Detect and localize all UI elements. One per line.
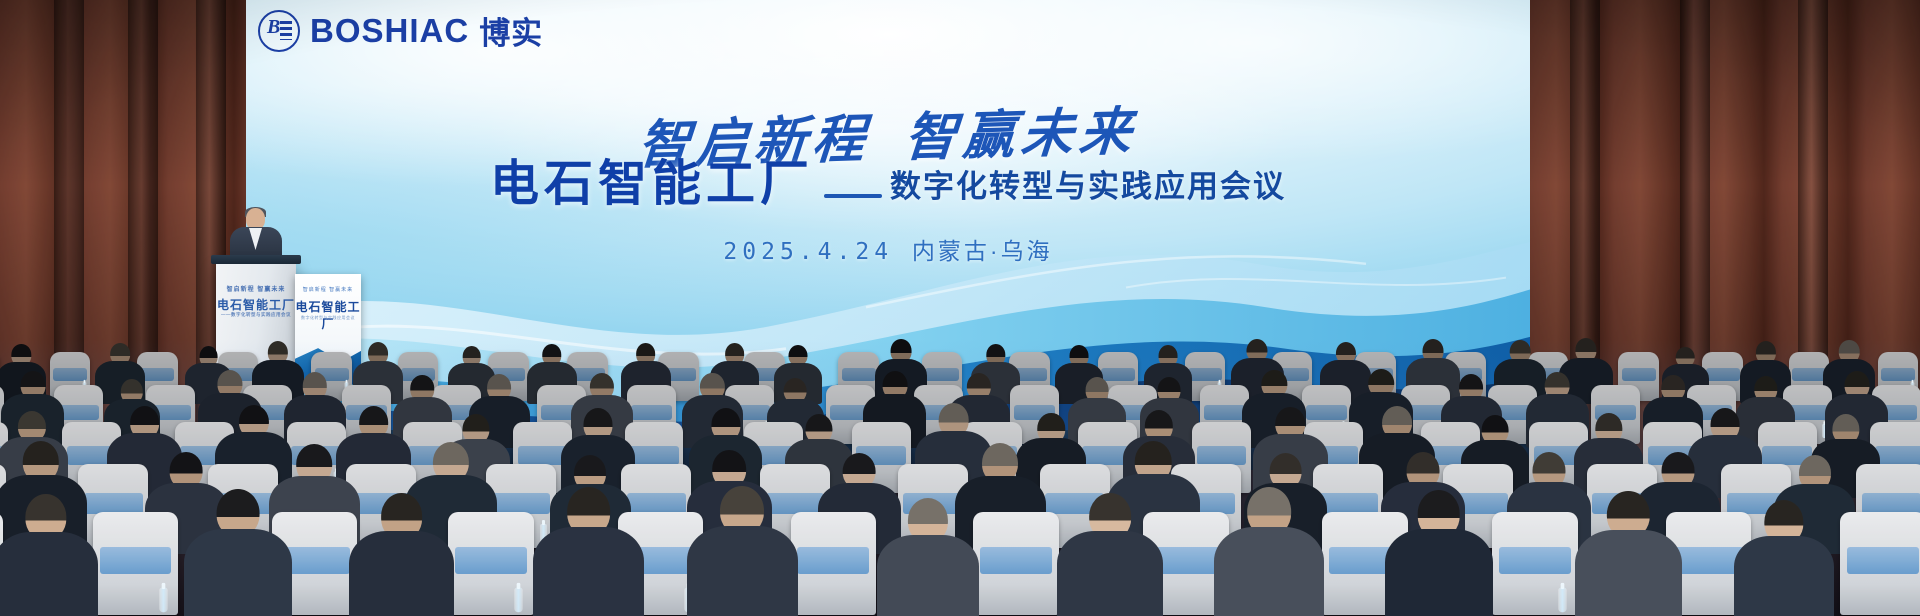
emblem-bars-icon xyxy=(280,21,292,40)
audience-member xyxy=(1214,487,1325,616)
audience-member xyxy=(1734,500,1833,616)
audience-chair xyxy=(1840,512,1920,614)
brand-name-english: BOSHIAC xyxy=(310,12,469,50)
chair-back-band xyxy=(100,547,172,574)
audience-member xyxy=(0,494,98,616)
chair-back-band xyxy=(1319,493,1378,515)
screen-main-title: 电石智能工厂 xyxy=(490,160,814,209)
audience-shoulders xyxy=(349,531,455,616)
screen-date-location: 2025.4.24 内蒙古·乌海 xyxy=(246,232,1530,266)
audience-member xyxy=(1385,490,1493,616)
chair-back-band xyxy=(980,547,1052,574)
audience-shoulders xyxy=(1575,530,1682,616)
audience-member xyxy=(1575,491,1682,616)
rollup-line-top: 智启新程 智赢未来 xyxy=(295,286,361,293)
chair-back-band xyxy=(1792,368,1826,381)
screen-subtitle: 数字化转型与实践应用会议 xyxy=(890,161,1286,209)
boshiac-emblem-icon: B xyxy=(258,10,300,52)
audience-shoulders xyxy=(533,527,643,616)
audience-member xyxy=(349,493,455,616)
chair-back-band xyxy=(1706,368,1740,381)
chair-back-band xyxy=(1847,547,1919,574)
audience-member xyxy=(877,498,979,616)
audience-chair xyxy=(791,512,876,614)
water-bottle xyxy=(159,588,168,612)
event-date: 2025.4.24 xyxy=(723,239,893,265)
chair-back-band xyxy=(1499,547,1571,574)
podium-top-edge xyxy=(211,255,301,264)
audience-chair xyxy=(973,512,1058,614)
audience-member xyxy=(533,487,643,616)
title-dash xyxy=(824,194,882,198)
podium-line-top: 智启新程 智赢未来 xyxy=(216,284,296,293)
chair-back-band xyxy=(629,446,678,464)
audience-shoulders xyxy=(184,529,293,616)
slogan-right: 智赢未来 xyxy=(902,104,1139,167)
conference-photo: 智启新程智赢未来 电石智能工厂 数字化转型与实践应用会议 2025.4.24 内… xyxy=(0,0,1920,616)
audience-shoulders xyxy=(1214,527,1325,616)
brand-name-chinese: 博实 xyxy=(479,8,543,53)
audience-shoulders xyxy=(0,532,98,616)
audience-area xyxy=(0,296,1920,616)
chair-back-band xyxy=(1197,446,1246,464)
audience-shoulders xyxy=(1385,529,1493,616)
audience-shoulders xyxy=(687,526,798,616)
audience-member xyxy=(687,486,798,616)
chair-back-band xyxy=(1862,493,1920,515)
chair-back-band xyxy=(455,547,527,574)
screen-title-row: 电石智能工厂 数字化转型与实践应用会议 xyxy=(246,160,1530,209)
audience-member xyxy=(1057,493,1162,616)
chair-back-band xyxy=(1204,405,1245,420)
audience-shoulders xyxy=(877,535,979,616)
event-city: 乌海 xyxy=(1001,238,1053,264)
audience-shoulders xyxy=(1734,536,1833,616)
brand-logo: B BOSHIAC 博实 xyxy=(250,4,553,58)
location-separator: · xyxy=(990,238,1001,264)
audience-shoulders xyxy=(1057,531,1162,616)
water-bottle xyxy=(514,588,523,612)
water-bottle xyxy=(1558,588,1567,612)
audience-member xyxy=(184,489,293,616)
chair-back-band xyxy=(797,547,869,574)
chair-back-band xyxy=(631,405,672,420)
emblem-letter: B xyxy=(267,17,280,37)
chair-back-band xyxy=(1875,446,1920,464)
event-province: 内蒙古 xyxy=(912,238,990,264)
